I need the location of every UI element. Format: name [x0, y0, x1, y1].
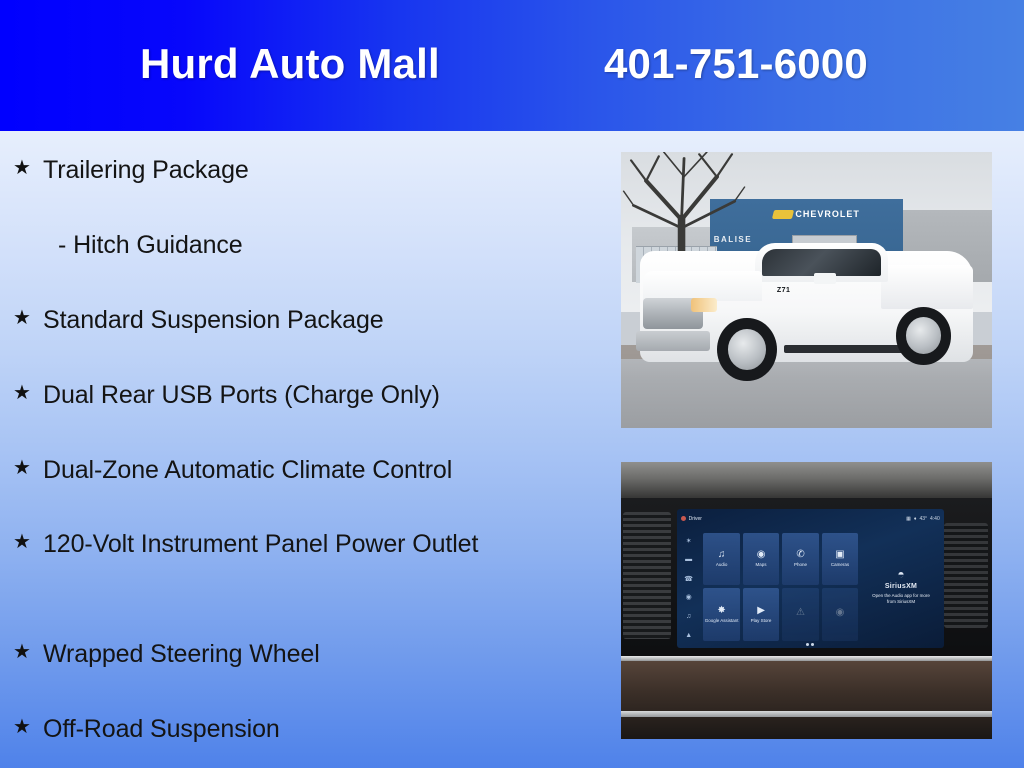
- tile-label: Cameras: [831, 562, 849, 567]
- list-item-label: Off-Road Suspension: [43, 712, 280, 746]
- tile-google-assistant[interactable]: ✸ Google Assistant: [703, 588, 739, 641]
- maps-pin-icon[interactable]: ◉: [684, 593, 693, 602]
- list-item: ★ Off-Road Suspension: [13, 712, 593, 746]
- camera-icon: ▣: [835, 550, 844, 560]
- tile-cameras[interactable]: ▣ Cameras: [822, 533, 858, 586]
- air-vent-right: [944, 523, 989, 628]
- tile-label: Phone: [794, 562, 807, 567]
- truck-hood: [643, 271, 762, 301]
- vehicle-interior-photo: Driver ▦ ♦ 43° 4:40 ✶ ▬ ☎ ◉ ♫ ▲ ♫: [621, 462, 992, 739]
- assistant-icon: ✸: [717, 606, 725, 616]
- tile-phone[interactable]: ✆ Phone: [782, 533, 818, 586]
- star-bullet-icon: ★: [13, 637, 43, 667]
- tile-dimmed-warning[interactable]: ⚠: [782, 588, 818, 641]
- page-title: Hurd Auto Mall: [140, 40, 440, 88]
- phone-icon: ✆: [796, 550, 804, 560]
- status-profile-label: Driver: [689, 516, 702, 522]
- tile-label: Audio: [716, 562, 728, 567]
- screen-status-bar: Driver ▦ ♦ 43° 4:40: [677, 509, 944, 528]
- status-temperature: 43°: [919, 516, 927, 522]
- list-item-label: 120-Volt Instrument Panel Power Outlet: [43, 527, 478, 561]
- side-mirror: [814, 273, 836, 284]
- star-bullet-icon: ★: [13, 378, 43, 408]
- audio-note-icon: ♫: [718, 550, 726, 560]
- tile-label: Play Store: [751, 618, 772, 623]
- list-item-label: Dual-Zone Automatic Climate Control: [43, 453, 452, 487]
- list-item: - Hitch Guidance: [13, 228, 593, 262]
- tile-label: Google Assistant: [705, 618, 739, 623]
- chevrolet-bowtie-icon: [772, 210, 794, 219]
- front-wheel: [717, 318, 776, 381]
- bluetooth-icon: ♦: [914, 516, 917, 522]
- tile-maps[interactable]: ◉ Maps: [743, 533, 779, 586]
- tile-play-store[interactable]: ▶ Play Store: [743, 588, 779, 641]
- header-banner: Hurd Auto Mall 401-751-6000: [0, 0, 1024, 131]
- list-item: ★ Trailering Package: [13, 153, 593, 187]
- dealer-phone-number[interactable]: 401-751-6000: [604, 40, 868, 88]
- siriusxm-logo: SiriusXM: [885, 583, 917, 590]
- maps-pin-icon: ◉: [757, 550, 766, 560]
- infotainment-screen[interactable]: Driver ▦ ♦ 43° 4:40 ✶ ▬ ☎ ◉ ♫ ▲ ♫: [677, 509, 944, 648]
- list-item-label: Trailering Package: [43, 153, 249, 187]
- list-item: ★ 120-Volt Instrument Panel Power Outlet: [13, 527, 593, 561]
- list-item-label: Dual Rear USB Ports (Charge Only): [43, 378, 440, 412]
- list-item: ★ Standard Suspension Package: [13, 303, 593, 337]
- siriusxm-panel[interactable]: ◓ SiriusXM Open the Audio app for more f…: [864, 533, 939, 641]
- air-vent-left: [623, 512, 671, 639]
- media-icon: ◉: [836, 608, 845, 618]
- status-profile-group[interactable]: Driver: [681, 516, 702, 522]
- truck-bed: [881, 265, 974, 309]
- star-bullet-icon: ★: [13, 303, 43, 333]
- dashboard-lower-trim: [621, 661, 992, 739]
- signal-waves-icon: ◓: [897, 569, 904, 580]
- status-clock: 4:40: [930, 516, 940, 522]
- star-bullet-icon: ★: [13, 712, 43, 742]
- warning-triangle-icon: ⚠: [796, 608, 805, 618]
- screen-sidebar-rail[interactable]: ✶ ▬ ☎ ◉ ♫ ▲: [677, 528, 701, 647]
- vehicle-icon[interactable]: ▬: [684, 555, 693, 564]
- notification-dot-icon: [681, 516, 686, 521]
- dashboard-lower-chrome: [621, 711, 992, 717]
- list-item-label: Standard Suspension Package: [43, 303, 384, 337]
- list-item: ★ Dual-Zone Automatic Climate Control: [13, 453, 593, 487]
- page-dot: [811, 643, 814, 646]
- play-store-icon: ▶: [757, 606, 765, 616]
- phone-icon[interactable]: ☎: [684, 574, 693, 583]
- star-bullet-icon: ★: [13, 527, 43, 557]
- assistant-icon[interactable]: ✶: [684, 536, 693, 545]
- feature-list: ★ Trailering Package - Hitch Guidance ★ …: [0, 131, 600, 768]
- wheel-rim: [728, 329, 766, 370]
- dashboard-top: [621, 462, 992, 501]
- list-item: ★ Dual Rear USB Ports (Charge Only): [13, 378, 593, 412]
- status-indicators: ▦ ♦ 43° 4:40: [906, 516, 940, 522]
- trim-badge: Z71: [777, 287, 791, 294]
- running-board: [784, 345, 903, 353]
- tile-label: Maps: [756, 562, 767, 567]
- app-tile-grid: ♫ Audio ◉ Maps ✆ Phone ▣ Cameras ✸ Goo: [703, 533, 858, 641]
- page-indicator-dots[interactable]: [806, 643, 814, 646]
- star-bullet-icon: ★: [13, 153, 43, 183]
- tile-dimmed-media[interactable]: ◉: [822, 588, 858, 641]
- dealership-brand-sign: CHEVROLET: [795, 209, 860, 219]
- siriusxm-message: Open the Audio app for more from SiriusX…: [864, 593, 939, 605]
- headlight: [691, 298, 717, 312]
- page-dot: [806, 643, 809, 646]
- wheel-rim: [906, 317, 942, 354]
- list-item-label: Wrapped Steering Wheel: [43, 637, 320, 671]
- sim-icon: ▦: [906, 516, 911, 522]
- header-inner: Hurd Auto Mall 401-751-6000: [0, 0, 1024, 131]
- home-icon[interactable]: ▲: [684, 631, 693, 640]
- list-item: ★ Wrapped Steering Wheel: [13, 637, 593, 671]
- truck-window-glass: [762, 249, 881, 277]
- rear-wheel: [896, 307, 952, 365]
- list-item-label: - Hitch Guidance: [43, 228, 243, 262]
- front-bumper: [636, 331, 710, 350]
- audio-note-icon[interactable]: ♫: [684, 612, 693, 621]
- tile-audio[interactable]: ♫ Audio: [703, 533, 739, 586]
- star-bullet-icon: ★: [13, 453, 43, 483]
- vehicle-exterior-photo: CHEVROLET BALISE: [621, 152, 992, 428]
- dealer-feature-slide: Hurd Auto Mall 401-751-6000 ★ Trailering…: [0, 0, 1024, 768]
